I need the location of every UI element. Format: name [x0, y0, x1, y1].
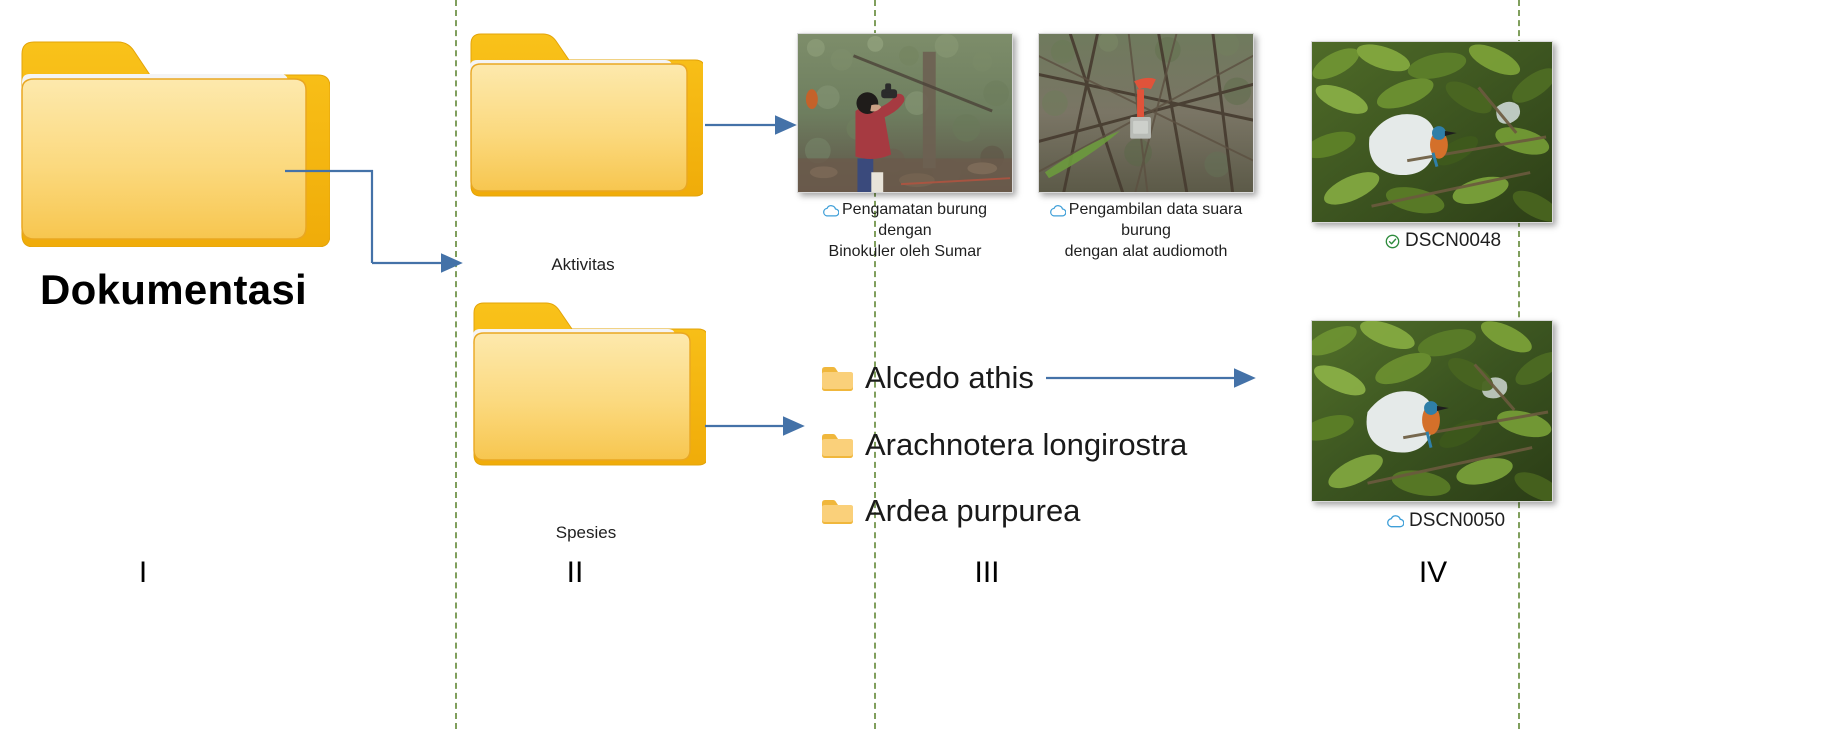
root-folder-label: Dokumentasi	[40, 266, 307, 314]
connector-root-to-subfolders	[285, 160, 485, 280]
photo-caption-text-1: Pengamatan burung dengan	[842, 201, 987, 239]
file-card-DSCN0050[interactable]	[1311, 320, 1553, 502]
species-item-1[interactable]: Arachnotera longirostra	[821, 427, 1187, 463]
aktivitas-folder-icon[interactable]	[463, 28, 703, 213]
cloud-icon	[1387, 515, 1404, 528]
photo-caption-text-2: Pengambilan data suara burung	[1069, 201, 1242, 239]
column-divider-1	[455, 0, 457, 729]
aktivitas-folder-label: Aktivitas	[483, 255, 683, 275]
column-numeral-4: IV	[1373, 556, 1493, 590]
column-numeral-1: I	[83, 556, 203, 590]
species-label-2: Ardea purpurea	[865, 493, 1080, 529]
folder-icon	[821, 432, 853, 458]
diagram-canvas: Dokumentasi	[0, 0, 1840, 729]
audiomoth-recorder-photo	[1038, 33, 1254, 193]
column-numeral-2: II	[515, 556, 635, 590]
photo-caption-text-2b: dengan alat audiomoth	[1030, 242, 1262, 263]
check-circle-icon	[1385, 234, 1400, 249]
cloud-icon	[1050, 205, 1066, 217]
species-item-0[interactable]: Alcedo athis	[821, 360, 1034, 396]
species-label-1: Arachnotera longirostra	[865, 427, 1187, 463]
column-numeral-3: III	[927, 556, 1047, 590]
folder-icon	[821, 498, 853, 524]
connector-species-to-files	[1046, 366, 1256, 390]
connector-aktivitas-to-photos	[705, 113, 795, 137]
spesies-folder-label: Spesies	[486, 523, 686, 543]
bird-watching-photo	[797, 33, 1013, 193]
connector-spesies-to-species-list	[705, 414, 805, 438]
photo-caption-text-1b: Binokuler oleh Sumar	[797, 242, 1013, 263]
kingfisher-photo-1	[1311, 41, 1553, 223]
cloud-icon	[823, 205, 839, 217]
photo-caption-bird-watching: Pengamatan burung dengan Binokuler oleh …	[797, 200, 1013, 262]
file-label-DSCN0048: DSCN0048	[1385, 230, 1501, 252]
folder-icon	[821, 365, 853, 391]
spesies-folder-icon[interactable]	[466, 297, 706, 482]
kingfisher-photo-2	[1311, 320, 1553, 502]
species-item-2[interactable]: Ardea purpurea	[821, 493, 1080, 529]
photo-card-audiomoth[interactable]	[1038, 33, 1254, 193]
photo-card-bird-watching[interactable]	[797, 33, 1013, 193]
file-name-0: DSCN0048	[1405, 230, 1501, 252]
species-label-0: Alcedo athis	[865, 360, 1034, 396]
photo-caption-audiomoth: Pengambilan data suara burung dengan ala…	[1030, 200, 1262, 262]
file-label-DSCN0050: DSCN0050	[1387, 510, 1505, 532]
file-card-DSCN0048[interactable]	[1311, 41, 1553, 223]
root-folder-icon[interactable]	[10, 32, 330, 247]
file-name-1: DSCN0050	[1409, 510, 1505, 532]
